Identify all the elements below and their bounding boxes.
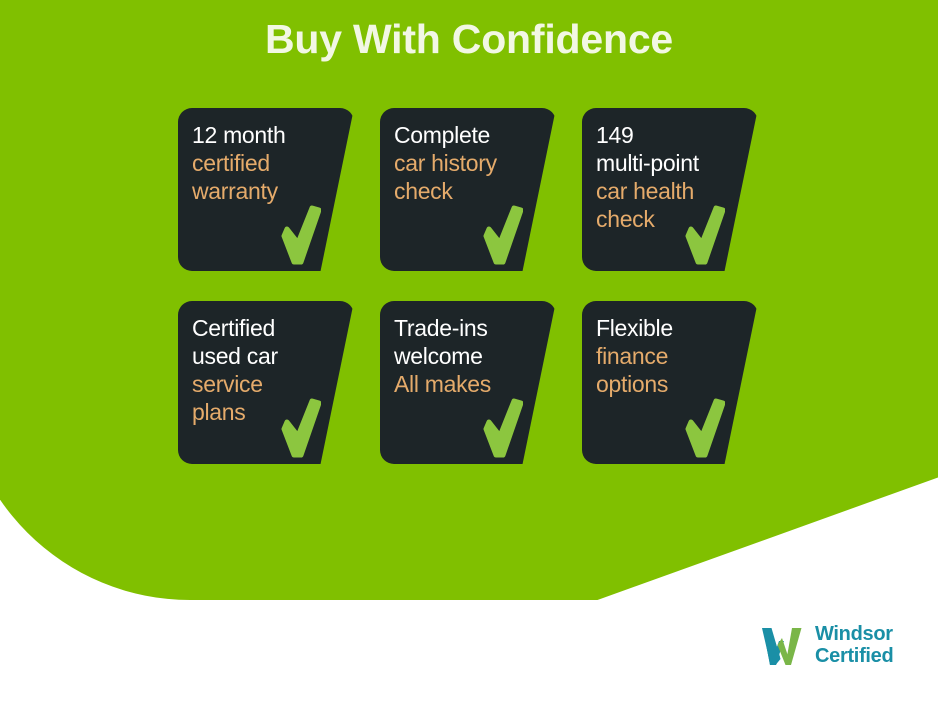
poster-canvas: Buy With Confidence 12 month certified w… — [0, 0, 938, 704]
card-line: finance — [596, 342, 748, 370]
logo-line-windsor: Windsor — [815, 624, 893, 646]
checkmark-icon — [483, 398, 523, 458]
card-line: check — [394, 177, 546, 205]
brand-logo[interactable]: Windsor Certified — [758, 624, 893, 667]
card-line: Certified — [192, 314, 344, 342]
benefit-card-row: Certified used car service plans Trade-i… — [178, 301, 778, 464]
card-line: Flexible — [596, 314, 748, 342]
card-line: check — [596, 205, 748, 233]
card-text-block: 12 month certified warranty — [192, 121, 344, 205]
card-line: car health — [596, 177, 748, 205]
benefit-card-finance[interactable]: Flexible finance options — [582, 301, 758, 464]
windsor-w-mark-icon — [758, 625, 806, 667]
checkmark-icon — [685, 398, 725, 458]
card-line: certified — [192, 149, 344, 177]
card-text-block: 149 multi-point car health check — [596, 121, 748, 233]
card-line: 12 month — [192, 121, 344, 149]
page-title: Buy With Confidence — [0, 18, 938, 61]
card-text-block: Certified used car service plans — [192, 314, 344, 426]
checkmark-icon — [483, 205, 523, 265]
card-line: Trade-ins — [394, 314, 546, 342]
logo-wordmark: Windsor Certified — [815, 624, 893, 667]
benefit-card-warranty[interactable]: 12 month certified warranty — [178, 108, 354, 271]
card-line: car history — [394, 149, 546, 177]
card-text-block: Flexible finance options — [596, 314, 748, 398]
card-line: welcome — [394, 342, 546, 370]
card-text-block: Trade-ins welcome All makes — [394, 314, 546, 398]
card-text-block: Complete car history check — [394, 121, 546, 205]
card-line: service — [192, 370, 344, 398]
card-line: All makes — [394, 370, 546, 398]
card-line: 149 — [596, 121, 748, 149]
benefit-card-history-check[interactable]: Complete car history check — [380, 108, 556, 271]
card-line: used car — [192, 342, 344, 370]
benefit-card-grid: 12 month certified warranty Complete car… — [178, 108, 778, 494]
card-line: warranty — [192, 177, 344, 205]
card-line: Complete — [394, 121, 546, 149]
card-line: multi-point — [596, 149, 748, 177]
benefit-card-service-plans[interactable]: Certified used car service plans — [178, 301, 354, 464]
benefit-card-trade-ins[interactable]: Trade-ins welcome All makes — [380, 301, 556, 464]
card-line: options — [596, 370, 748, 398]
logo-line-certified: Certified — [815, 646, 893, 668]
benefit-card-health-check[interactable]: 149 multi-point car health check — [582, 108, 758, 271]
card-line: plans — [192, 398, 344, 426]
checkmark-icon — [281, 205, 321, 265]
benefit-card-row: 12 month certified warranty Complete car… — [178, 108, 778, 271]
